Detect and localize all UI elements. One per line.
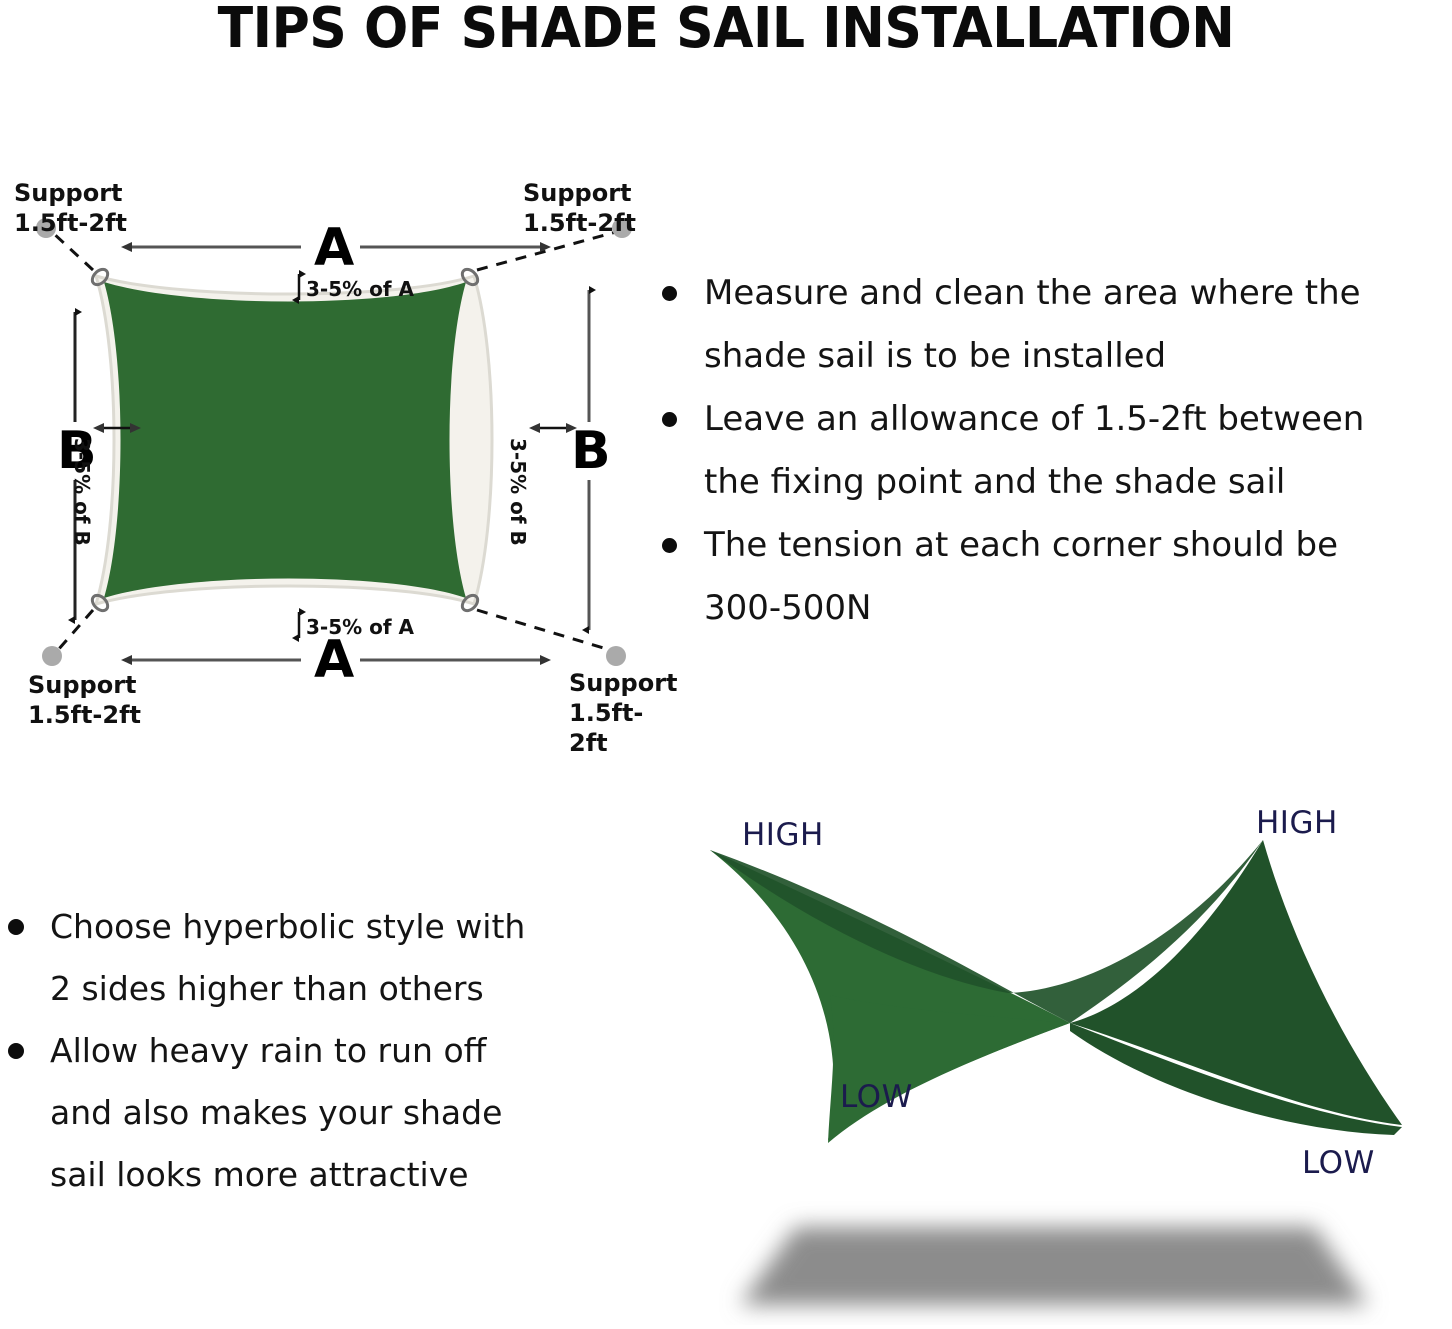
tip-line: 300-500N <box>704 588 872 628</box>
label-high-left: HIGH <box>742 817 824 853</box>
support-label-bottom-right: Support 1.5ft-2ft <box>569 668 678 758</box>
style-line: and also makes your shade <box>50 1093 502 1132</box>
anchor-dot-bottom-right <box>606 646 626 666</box>
list-item: Measure and clean the area where the sha… <box>648 262 1452 388</box>
support-label-line1: Support <box>523 178 636 208</box>
tip-line: the fixing point and the shade sail <box>704 462 1285 502</box>
tip-line: shade sail is to be installed <box>704 336 1166 376</box>
dimension-letter-a-bottom: A <box>314 634 354 686</box>
bullet-dot-icon <box>662 412 677 427</box>
support-label-line1: Support <box>14 178 127 208</box>
list-item: Leave an allowance of 1.5-2ft between th… <box>648 388 1452 514</box>
page-title: TIPS OF SHADE SAIL INSTALLATION <box>51 0 1401 62</box>
support-label-line2: 1.5ft-2ft <box>14 208 127 238</box>
label-low-right: LOW <box>1302 1145 1375 1181</box>
style-line: Allow heavy rain to run off <box>50 1031 486 1070</box>
support-label-line1: Support <box>28 670 141 700</box>
support-label-line1: Support <box>569 668 678 698</box>
support-label-top-left: Support 1.5ft-2ft <box>14 178 127 238</box>
list-item: Choose hyperbolic style with 2 sides hig… <box>0 896 620 1020</box>
sag-label-right: 3-5% of B <box>506 438 530 546</box>
support-label-line2: 1.5ft-2ft <box>569 698 678 758</box>
hyperbolic-style-list: Choose hyperbolic style with 2 sides hig… <box>0 896 620 1206</box>
label-high-right: HIGH <box>1256 805 1338 841</box>
style-line: Choose hyperbolic style with <box>50 907 525 946</box>
hyperbolic-sail-diagram: HIGH HIGH LOW LOW <box>678 795 1452 1325</box>
sag-label-top: 3-5% of A <box>306 277 414 301</box>
support-label-line2: 1.5ft-2ft <box>523 208 636 238</box>
list-item: Allow heavy rain to run off and also mak… <box>0 1020 620 1206</box>
tip-line: Leave an allowance of 1.5-2ft between <box>704 399 1364 439</box>
shade-sail-shape <box>104 282 466 598</box>
ground-shadow <box>740 1227 1368 1305</box>
list-item: The tension at each corner should be 300… <box>648 514 1452 640</box>
bullet-dot-icon <box>8 919 24 935</box>
support-label-bottom-left: Support 1.5ft-2ft <box>28 670 141 730</box>
anchor-dot-bottom-left <box>42 646 62 666</box>
support-label-top-right: Support 1.5ft-2ft <box>523 178 636 238</box>
tip-line: The tension at each corner should be <box>704 525 1338 565</box>
style-line: sail looks more attractive <box>50 1155 469 1194</box>
tip-line: Measure and clean the area where the <box>704 273 1361 313</box>
dimension-letter-a-top: A <box>314 222 354 274</box>
bullet-dot-icon <box>8 1043 24 1059</box>
hyperbolic-diagram-svg <box>678 795 1452 1325</box>
dimension-letter-b-right: B <box>571 425 611 477</box>
sag-label-bottom: 3-5% of A <box>306 615 414 639</box>
installation-tips-panel: Measure and clean the area where the sha… <box>648 262 1452 640</box>
installation-tips-list: Measure and clean the area where the sha… <box>648 262 1452 640</box>
rectangular-sail-diagram: Support 1.5ft-2ft Support 1.5ft-2ft Supp… <box>0 160 660 740</box>
bullet-dot-icon <box>662 286 677 301</box>
label-low-left: LOW <box>840 1079 913 1115</box>
sag-label-left: 3-5% of B <box>70 438 94 546</box>
hyperbolic-style-panel: Choose hyperbolic style with 2 sides hig… <box>0 896 620 1206</box>
style-line: 2 sides higher than others <box>50 969 484 1008</box>
bullet-dot-icon <box>662 538 677 553</box>
support-label-line2: 1.5ft-2ft <box>28 700 141 730</box>
